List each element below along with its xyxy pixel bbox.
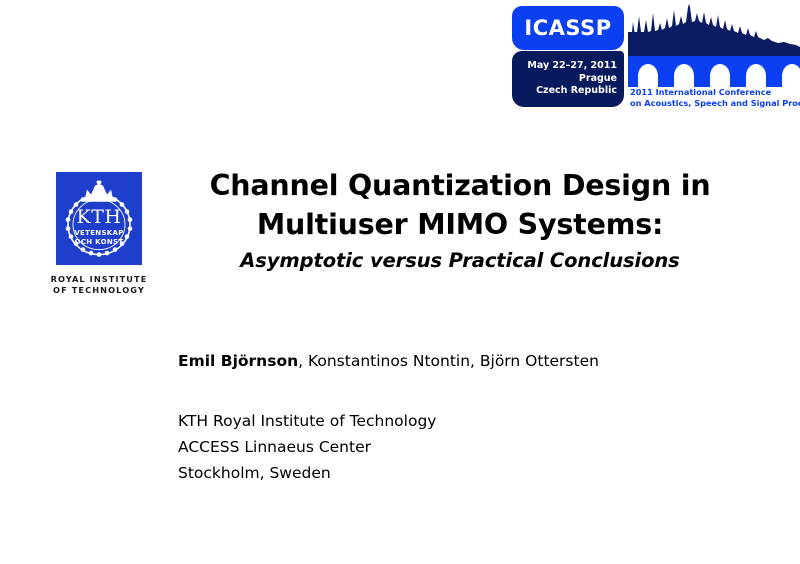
kth-motto: VETENSKAP OCH KONST	[56, 229, 142, 246]
affiliation-block: KTH Royal Institute of Technology ACCESS…	[178, 408, 436, 486]
page-subtitle: Asymptotic versus Practical Conclusions	[170, 244, 750, 278]
kth-caption-line1: ROYAL INSTITUTE	[40, 274, 158, 285]
affiliation-line-2: ACCESS Linnaeus Center	[178, 434, 436, 460]
icassp-date-line: May 22–27, 2011	[527, 60, 617, 73]
kth-emblem: KTH VETENSKAP OCH KONST	[56, 172, 142, 265]
kth-motto-line1: VETENSKAP	[56, 229, 142, 238]
kth-logo: KTH VETENSKAP OCH KONST ROYAL INSTITUTE …	[56, 172, 144, 296]
title-line-2: Multiuser MIMO Systems:	[170, 205, 750, 244]
affiliation-line-1: KTH Royal Institute of Technology	[178, 408, 436, 434]
kth-caption-line2: OF TECHNOLOGY	[40, 285, 158, 296]
affiliation-line-3: Stockholm, Sweden	[178, 460, 436, 486]
icassp-tagline-line1: 2011 International Conference	[630, 87, 800, 98]
icassp-country-line: Czech Republic	[536, 85, 617, 98]
author-list: Emil Björnson, Konstantinos Ntontin, Bjö…	[178, 350, 599, 372]
icassp-tagline-line2: on Acoustics, Speech and Signal Processi…	[630, 98, 800, 109]
title-line-1: Channel Quantization Design in	[170, 166, 750, 205]
icassp-city-line: Prague	[579, 73, 617, 86]
icassp-date-location-box: May 22–27, 2011 Prague Czech Republic	[512, 51, 624, 107]
title-slide: ICASSP May 22–27, 2011 Prague Czech Repu…	[0, 0, 800, 564]
page-title: Channel Quantization Design in Multiuser…	[170, 166, 750, 278]
icassp-badge-label: ICASSP	[524, 18, 611, 39]
icassp-badge: ICASSP	[512, 6, 624, 50]
charles-bridge-silhouette-icon	[628, 56, 800, 87]
kth-monogram: KTH	[56, 208, 142, 227]
lead-author: Emil Björnson	[178, 352, 298, 370]
icassp-conference-logo: ICASSP May 22–27, 2011 Prague Czech Repu…	[512, 4, 800, 110]
icassp-tagline: 2011 International Conference on Acousti…	[630, 87, 800, 109]
kth-motto-line2: OCH KONST	[56, 238, 142, 247]
kth-caption: ROYAL INSTITUTE OF TECHNOLOGY	[40, 274, 158, 296]
co-authors: , Konstantinos Ntontin, Björn Ottersten	[298, 352, 599, 370]
prague-castle-silhouette-icon	[628, 4, 800, 58]
royal-crown-icon	[84, 180, 114, 201]
